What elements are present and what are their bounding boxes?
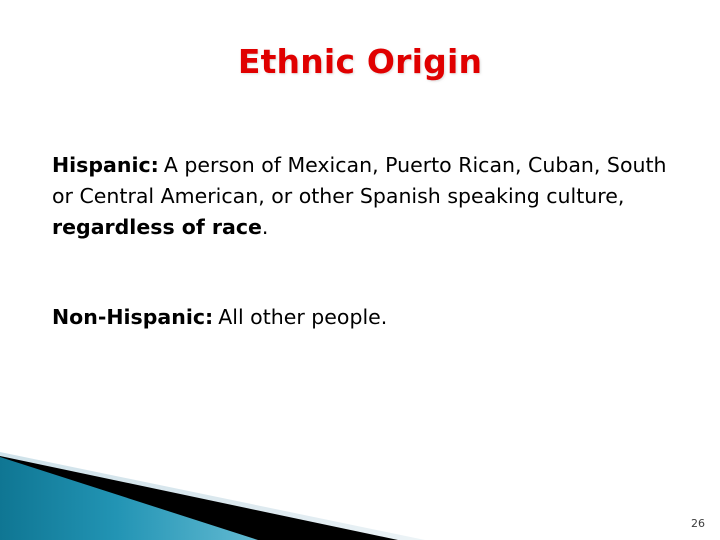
definition-term-non-hispanic: Non-Hispanic: [52,305,213,329]
page-number: 26 [691,517,705,530]
slide-body: Hispanic:A person of Mexican, Puerto Ric… [52,150,672,333]
teal-triangle [0,457,258,540]
slide-canvas: Ethnic Origin Hispanic:A person of Mexic… [0,0,720,540]
definition-paragraph-non-hispanic: Non-Hispanic:All other people. [52,302,672,333]
definition-text-non-hispanic: All other people. [218,305,387,329]
definition-emphasis-regardless-of-race: regardless of race [52,215,262,239]
definition-paragraph-hispanic: Hispanic:A person of Mexican, Puerto Ric… [52,150,672,243]
page-title: Ethnic Origin [0,42,720,81]
black-wedge-band [0,456,398,540]
bottom-corner-fan-decoration [0,430,720,540]
pale-blue-band [0,452,425,540]
definition-text-hispanic-tail: . [262,215,269,239]
definition-term-hispanic: Hispanic: [52,153,159,177]
